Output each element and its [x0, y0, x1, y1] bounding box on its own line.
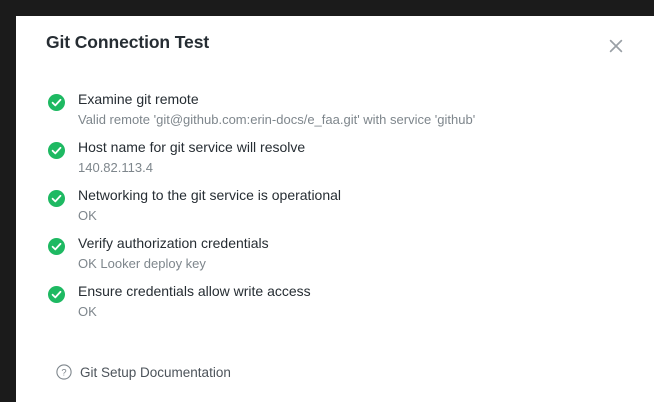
check-title: Networking to the git service is operati…	[78, 186, 654, 205]
check-text-group: Networking to the git service is operati…	[78, 184, 654, 225]
list-item: Examine git remote Valid remote 'git@git…	[16, 88, 654, 136]
dialog-footer: ? Git Setup Documentation	[16, 364, 231, 380]
check-detail: OK Looker deploy key	[78, 254, 654, 273]
check-circle-icon	[48, 190, 65, 207]
list-item: Host name for git service will resolve 1…	[16, 136, 654, 184]
git-setup-documentation-link[interactable]: Git Setup Documentation	[80, 365, 231, 380]
check-detail: OK	[78, 302, 654, 321]
page-title: Git Connection Test	[46, 32, 209, 53]
check-detail: OK	[78, 206, 654, 225]
close-icon	[609, 39, 623, 53]
check-title: Ensure credentials allow write access	[78, 282, 654, 301]
check-detail: Valid remote 'git@github.com:erin-docs/e…	[78, 110, 654, 129]
list-item: Verify authorization credentials OK Look…	[16, 232, 654, 280]
check-circle-icon	[48, 238, 65, 255]
check-list: Examine git remote Valid remote 'git@git…	[16, 88, 654, 328]
check-title: Verify authorization credentials	[78, 234, 654, 253]
git-connection-test-dialog: Git Connection Test Examine	[16, 16, 654, 402]
check-circle-icon	[48, 94, 65, 111]
dialog-header: Git Connection Test	[16, 16, 654, 72]
svg-text:?: ?	[61, 367, 66, 378]
check-title: Examine git remote	[78, 90, 654, 109]
check-text-group: Ensure credentials allow write access OK	[78, 280, 654, 321]
screenshot-frame: Git Connection Test Examine	[0, 0, 654, 402]
check-text-group: Host name for git service will resolve 1…	[78, 136, 654, 177]
check-circle-icon	[48, 286, 65, 303]
check-text-group: Verify authorization credentials OK Look…	[78, 232, 654, 273]
close-button[interactable]	[602, 32, 630, 60]
list-item: Ensure credentials allow write access OK	[16, 280, 654, 328]
check-text-group: Examine git remote Valid remote 'git@git…	[78, 88, 654, 129]
check-detail: 140.82.113.4	[78, 158, 654, 177]
help-circle-icon: ?	[56, 364, 72, 380]
list-item: Networking to the git service is operati…	[16, 184, 654, 232]
check-title: Host name for git service will resolve	[78, 138, 654, 157]
check-circle-icon	[48, 142, 65, 159]
